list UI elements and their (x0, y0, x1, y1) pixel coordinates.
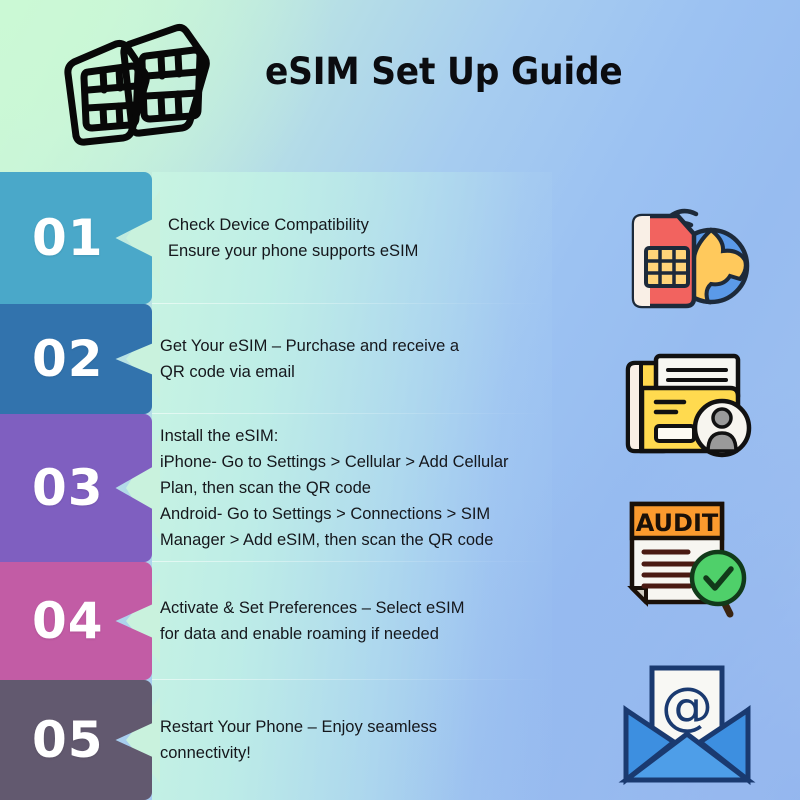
folder-document-user-icon (612, 348, 762, 458)
step-line: Restart Your Phone – Enjoy seamless (160, 714, 560, 740)
step-text-01: Check Device Compatibility Ensure your p… (160, 172, 560, 304)
step-line: Activate & Set Preferences – Select eSIM (160, 595, 560, 621)
at-symbol: @ (661, 677, 713, 737)
audit-label: AUDIT (636, 509, 719, 537)
step-line: QR code via email (160, 359, 560, 385)
sim-card-globe-icon (612, 194, 762, 314)
step-line: Install the eSIM: (160, 423, 580, 449)
step-text-03: Install the eSIM: iPhone- Go to Settings… (160, 414, 580, 562)
audit-document-check-icon: AUDIT (612, 496, 762, 621)
step-line: Check Device Compatibility (168, 212, 560, 238)
step-line: iPhone- Go to Settings > Cellular > Add … (160, 449, 580, 475)
header: eSIM Set Up Guide (0, 0, 800, 168)
step-number-01: 01 (32, 209, 104, 267)
step-line: Plan, then scan the QR code (160, 475, 580, 501)
step-line: connectivity! (160, 740, 560, 766)
step-line: Manager > Add eSIM, then scan the QR cod… (160, 527, 580, 553)
step-line: Android- Go to Settings > Connections > … (160, 501, 580, 527)
step-text-02: Get Your eSIM – Purchase and receive a Q… (160, 304, 560, 414)
step-number-05: 05 (32, 711, 104, 769)
step-line: Get Your eSIM – Purchase and receive a (160, 333, 560, 359)
step-text-05: Restart Your Phone – Enjoy seamless conn… (160, 680, 560, 800)
dual-sim-cards-icon (58, 18, 218, 148)
email-envelope-at-icon: @ (612, 660, 762, 790)
step-number-04: 04 (32, 592, 104, 650)
page-title: eSIM Set Up Guide (265, 50, 665, 94)
step-number-03: 03 (32, 459, 104, 517)
step-number-02: 02 (32, 330, 104, 388)
step-line: for data and enable roaming if needed (160, 621, 560, 647)
step-line: Ensure your phone supports eSIM (168, 238, 560, 264)
step-text-04: Activate & Set Preferences – Select eSIM… (160, 562, 560, 680)
